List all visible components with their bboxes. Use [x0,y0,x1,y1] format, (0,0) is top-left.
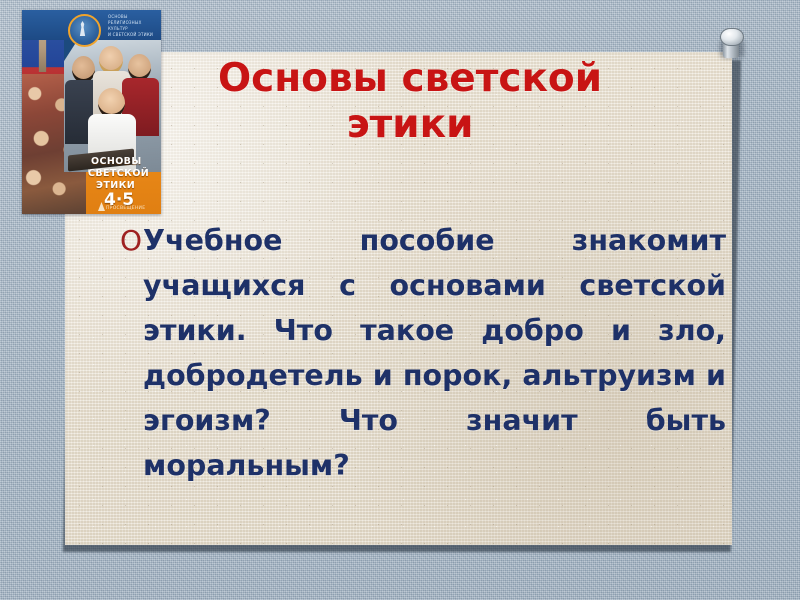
body-bullet-item: O Учебное пособие знакомит учащихся с ос… [120,218,726,533]
page-title: Основы светской этики [110,56,710,148]
cover-title-line-2: СВЕТСКОЙ [88,168,149,179]
child-1-head [72,56,95,83]
cover-publisher-label: ПРОСВЕЩЕНИЕ [106,206,145,211]
body-paragraph: Учебное пособие знакомит учащихся с осно… [143,218,726,533]
cover-series-text: ОСНОВЫ РЕЛИГИОЗНЫХ КУЛЬТУР И СВЕТСКОЙ ЭТ… [108,14,161,38]
presentation-slide: Основы светской этики O Учебное пособие … [0,0,800,600]
pushpin-head [720,28,744,46]
child-3-head [128,54,151,81]
title-line-2: этики [110,102,710,148]
book-cover-image: ОСНОВЫ РЕЛИГИОЗНЫХ КУЛЬТУР И СВЕТСКОЙ ЭТ… [22,10,161,214]
title-line-1: Основы светской [110,56,710,102]
circle-bullet-icon: O [120,218,143,263]
cover-emblem-icon [68,14,101,47]
child-2-head [99,46,123,74]
pushpin-icon [718,28,744,62]
cover-title-line-1: ОСНОВЫ [91,156,142,167]
